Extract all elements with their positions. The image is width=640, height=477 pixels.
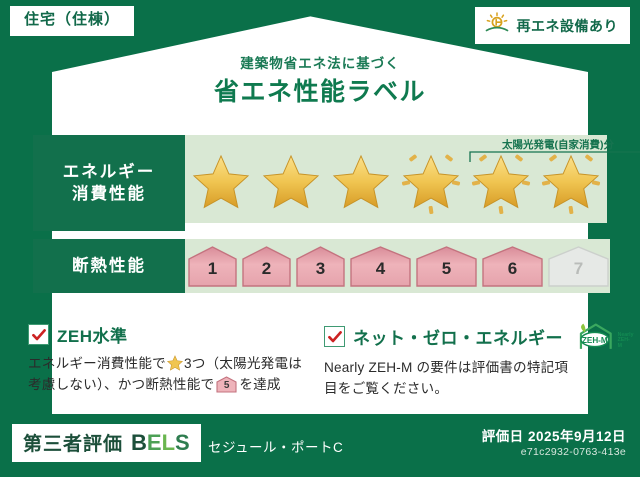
nze-description: Nearly ZEH-M の要件は評価書の特記項 目をご覧ください。 xyxy=(324,358,612,399)
energy-performance-label: 住宅（住棟） 再エネ設備あり 建築物省エネ法に基づく 省エネ性能ラベル xyxy=(0,0,640,477)
insulation-level-value: 7 xyxy=(574,253,583,279)
insulation-level-value: 5 xyxy=(442,253,451,279)
criteria-sections: ZEH水準 エネルギー消費性能で3つ（太陽光発電は考慮しない）、かつ断熱性能で5… xyxy=(28,322,612,399)
nze-checkbox xyxy=(324,326,345,347)
bels-letter-l: L xyxy=(162,430,175,455)
star-filled-1 xyxy=(187,145,255,219)
inline-insulation-badge: 5 xyxy=(216,376,237,393)
star-filled-2 xyxy=(257,145,325,219)
renewable-badge-label: 再エネ設備あり xyxy=(517,16,619,36)
bels-wordmark: BELS xyxy=(131,430,190,456)
insulation-level-value: 3 xyxy=(316,253,325,279)
zeh-description: エネルギー消費性能で3つ（太陽光発電は考慮しない）、かつ断熱性能で5を達成 xyxy=(28,354,310,395)
inline-insulation-value: 5 xyxy=(216,376,237,393)
insulation-level-2: 2 xyxy=(241,245,292,287)
label-footer: 第三者評価 BELS セジュール・ポートC 評価日 2025年9月12日 e71… xyxy=(0,414,640,477)
insulation-level-3: 3 xyxy=(295,245,346,287)
nze-title: ネット・ゼロ・エネルギー xyxy=(353,324,563,349)
energy-label-line2: 消費性能 xyxy=(72,183,146,205)
insulation-performance-row: 断熱性能 1 2 3 xyxy=(33,239,607,293)
star-solar-4 xyxy=(397,145,465,219)
check-icon xyxy=(32,329,46,341)
zeh-section: ZEH水準 エネルギー消費性能で3つ（太陽光発電は考慮しない）、かつ断熱性能で5… xyxy=(28,322,310,399)
insulation-level-5: 5 xyxy=(415,245,478,287)
insulation-level-value: 1 xyxy=(208,253,217,279)
net-zero-energy-section: ネット・ゼロ・エネルギー ZEH-M Nearly ZEH-M Nearly Z… xyxy=(324,322,612,399)
insulation-level-value: 2 xyxy=(262,253,271,279)
inline-star-icon xyxy=(167,355,183,371)
insulation-level-scale: 1 2 3 4 xyxy=(185,245,610,287)
insulation-levels-cell: 1 2 3 4 xyxy=(185,239,610,293)
svg-text:ZEH-M: ZEH-M xyxy=(582,336,608,345)
building-name: セジュール・ポートC xyxy=(208,436,343,456)
insulation-level-7: 7 xyxy=(547,245,610,287)
performance-block: エネルギー 消費性能 太陽光発電(自家消費)分 xyxy=(33,135,607,301)
zeh-m-house-icon: ZEH-M xyxy=(575,322,617,351)
insulation-level-4: 4 xyxy=(349,245,412,287)
check-icon xyxy=(328,331,342,343)
zeh-text-stars: 3つ（太陽光発電 xyxy=(184,356,288,371)
building-type-tag: 住宅（住棟） xyxy=(10,6,134,36)
insulation-level-value: 6 xyxy=(508,253,517,279)
insulation-performance-label-cell: 断熱性能 xyxy=(33,239,185,293)
zeh-m-logo: ZEH-M Nearly ZEH-M xyxy=(575,322,634,351)
energy-performance-label-cell: エネルギー 消費性能 xyxy=(33,135,185,231)
zeh-m-logo-sub2: ZEH-M xyxy=(618,338,634,349)
nze-text-line1: Nearly ZEH-M の要件は評価書の特記項 xyxy=(324,358,612,379)
star-solar-6 xyxy=(537,145,605,219)
renewable-equipment-badge: 再エネ設備あり xyxy=(475,7,631,44)
zeh-title: ZEH水準 xyxy=(57,322,128,347)
evaluation-date: 評価日 2025年9月12日 xyxy=(482,425,626,445)
bels-letter-e: E xyxy=(147,430,162,455)
energy-performance-row: エネルギー 消費性能 太陽光発電(自家消費)分 xyxy=(33,135,607,231)
solar-sun-icon xyxy=(484,12,510,39)
label-title-block: 建築物省エネ法に基づく 省エネ性能ラベル xyxy=(0,56,640,107)
zeh-text-part3: を達成 xyxy=(239,377,280,392)
bels-letter-s: S xyxy=(175,430,190,455)
insulation-level-6: 6 xyxy=(481,245,544,287)
bels-letter-b: B xyxy=(131,430,147,455)
insulation-level-1: 1 xyxy=(187,245,238,287)
energy-label-line1: エネルギー xyxy=(63,161,156,183)
zeh-heading: ZEH水準 xyxy=(28,322,310,347)
zeh-checkbox xyxy=(28,324,49,345)
nze-text-line2: 目をご覧ください。 xyxy=(324,379,612,400)
star-solar-5 xyxy=(467,145,535,219)
insulation-label: 断熱性能 xyxy=(72,255,146,277)
star-rating xyxy=(187,139,605,219)
evaluation-id: e71c2932-0763-413e xyxy=(521,446,626,458)
bels-jp-label: 第三者評価 xyxy=(23,429,123,456)
star-filled-3 xyxy=(327,145,395,219)
energy-stars-cell: 太陽光発電(自家消費)分 xyxy=(185,135,607,223)
zeh-text-part1: エネルギー消費性能で xyxy=(28,356,166,371)
title-main: 省エネ性能ラベル xyxy=(0,78,640,107)
insulation-level-value: 4 xyxy=(376,253,385,279)
nze-heading: ネット・ゼロ・エネルギー ZEH-M Nearly ZEH-M xyxy=(324,322,612,351)
bels-certification-box: 第三者評価 BELS xyxy=(12,424,201,462)
title-subtitle: 建築物省エネ法に基づく xyxy=(0,56,640,72)
